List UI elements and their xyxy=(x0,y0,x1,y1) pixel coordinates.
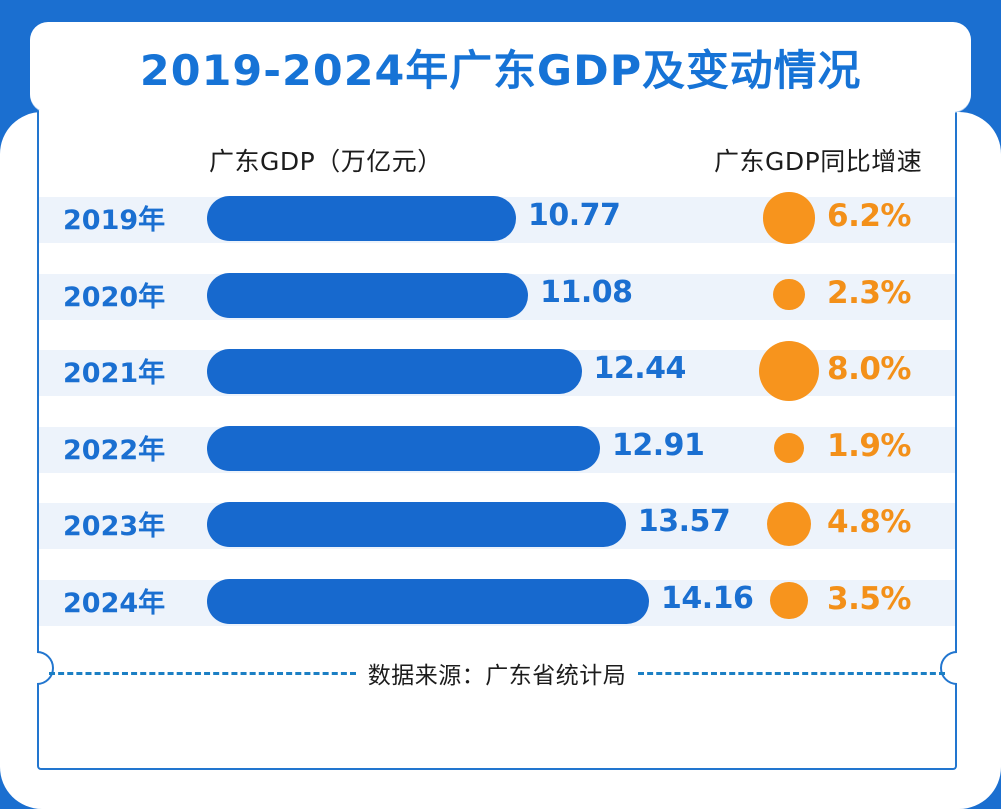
gdp-bar xyxy=(207,579,649,624)
gdp-bar xyxy=(207,273,528,318)
table-row: 2020年11.082.3% xyxy=(37,267,957,335)
row-year-label: 2019年 xyxy=(63,198,213,237)
ticket-notch-mask-right xyxy=(957,648,977,688)
source-text: 数据来源：广东省统计局 xyxy=(368,656,627,690)
title-banner: 2019-2024年广东GDP及变动情况 xyxy=(30,22,971,112)
column-header-gdp: 广东GDP（万亿元） xyxy=(209,142,443,178)
row-year-label: 2024年 xyxy=(63,581,213,620)
growth-bubble xyxy=(767,502,811,546)
table-row: 2024年14.163.5% xyxy=(37,573,957,641)
footer-source-line: 数据来源：广东省统计局 xyxy=(37,648,957,698)
table-row: 2022年12.911.9% xyxy=(37,420,957,488)
growth-bubble xyxy=(763,192,814,243)
gdp-value-label: 11.08 xyxy=(540,275,632,310)
gdp-bar xyxy=(207,502,626,547)
gdp-bar xyxy=(207,426,600,471)
gdp-value-label: 14.16 xyxy=(661,581,753,616)
gdp-value-label: 13.57 xyxy=(638,504,730,539)
growth-value-label: 4.8% xyxy=(827,504,911,540)
dashed-divider-right xyxy=(638,672,945,675)
growth-bubble xyxy=(774,433,804,463)
column-headers: 广东GDP（万亿元） 广东GDP同比增速 xyxy=(37,136,957,182)
row-year-label: 2022年 xyxy=(63,428,213,467)
gdp-bar xyxy=(207,349,582,394)
gdp-value-label: 12.44 xyxy=(594,351,686,386)
growth-bubble xyxy=(770,582,808,620)
table-row: 2023年13.574.8% xyxy=(37,496,957,564)
growth-value-label: 8.0% xyxy=(827,351,911,387)
column-header-growth: 广东GDP同比增速 xyxy=(714,142,922,178)
page-title: 2019-2024年广东GDP及变动情况 xyxy=(140,37,861,98)
infographic-poster: 2019-2024年广东GDP及变动情况 广东GDP（万亿元） 广东GDP同比增… xyxy=(0,0,1001,809)
gdp-value-label: 10.77 xyxy=(528,198,620,233)
gdp-bar xyxy=(207,196,516,241)
growth-bubble xyxy=(773,279,805,311)
table-row: 2021年12.448.0% xyxy=(37,343,957,411)
row-year-label: 2021年 xyxy=(63,351,213,390)
table-row: 2019年10.776.2% xyxy=(37,190,957,258)
dashed-divider-left xyxy=(49,672,356,675)
growth-value-label: 6.2% xyxy=(827,198,911,234)
growth-value-label: 2.3% xyxy=(827,275,911,311)
growth-value-label: 1.9% xyxy=(827,428,911,464)
growth-value-label: 3.5% xyxy=(827,581,911,617)
ticket-notch-mask-left xyxy=(17,648,37,688)
row-year-label: 2023年 xyxy=(63,504,213,543)
growth-bubble xyxy=(759,341,819,401)
row-year-label: 2020年 xyxy=(63,275,213,314)
chart-rows: 2019年10.776.2%2020年11.082.3%2021年12.448.… xyxy=(37,190,957,650)
gdp-value-label: 12.91 xyxy=(612,428,704,463)
